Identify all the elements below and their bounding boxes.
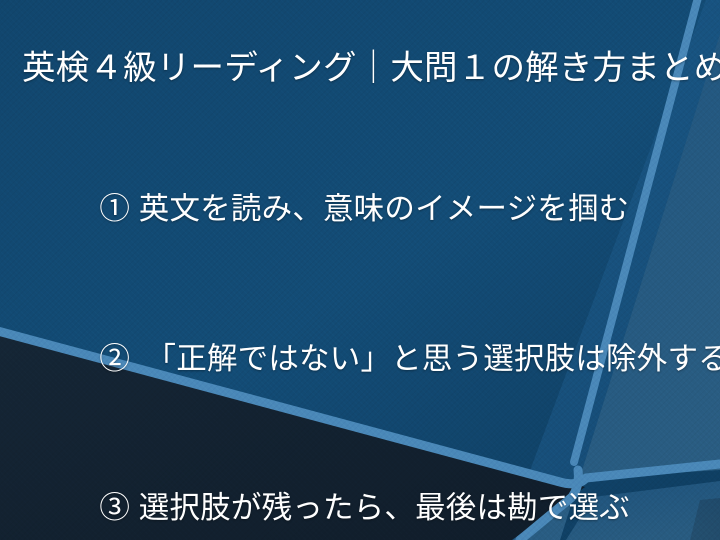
list-item-text: ① 英文を読み、意味のイメージを掴む bbox=[99, 192, 629, 226]
slide-content: 英検４級リーディング｜大問１の解き方まとめ ① 英文を読み、意味のイメージを掴む… bbox=[0, 0, 720, 540]
list-item: ③ 選択肢が残ったら、最後は勘で選ぶ （なにより時間をかけない！） bbox=[30, 450, 720, 540]
presentation-slide: 英検４級リーディング｜大問１の解き方まとめ ① 英文を読み、意味のイメージを掴む… bbox=[0, 0, 720, 540]
slide-title: 英検４級リーディング｜大問１の解き方まとめ bbox=[22, 48, 712, 90]
list-item: ② 「正解ではない」と思う選択肢は除外する bbox=[30, 300, 720, 419]
slide-body-list: ① 英文を読み、意味のイメージを掴む ② 「正解ではない」と思う選択肢は除外する… bbox=[30, 150, 720, 540]
list-item-text: ③ 選択肢が残ったら、最後は勘で選ぶ bbox=[99, 491, 630, 525]
list-item: ① 英文を読み、意味のイメージを掴む bbox=[30, 150, 720, 269]
list-item-text: ② 「正解ではない」と思う選択肢は除外する bbox=[99, 342, 720, 376]
